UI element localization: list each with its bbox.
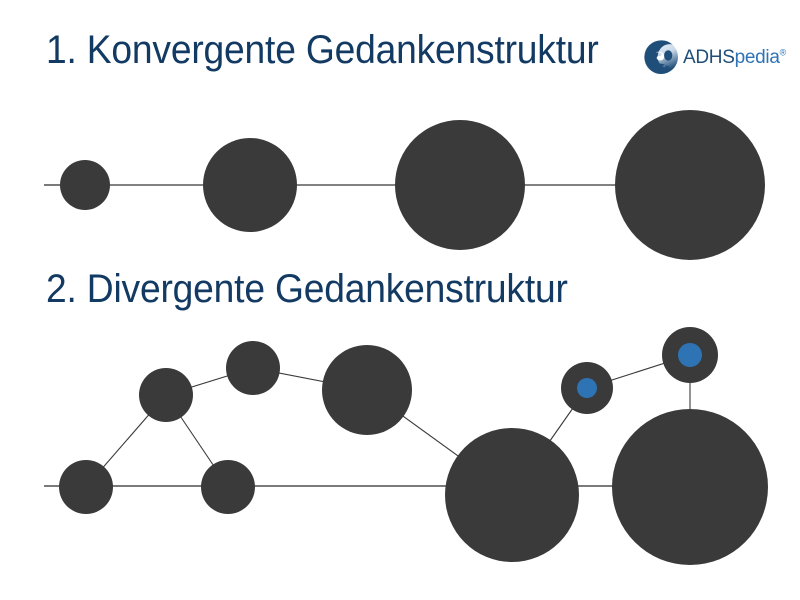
- thought-node: [612, 409, 768, 565]
- adhspedia-logo: ADHSpedia®: [643, 38, 791, 76]
- node-edge: [253, 368, 367, 390]
- node-edge: [367, 390, 512, 495]
- logo-trademark-symbol: ®: [780, 47, 786, 57]
- logo-text-primary: ADHS: [683, 47, 735, 68]
- thought-node: [322, 345, 412, 435]
- adhspedia-logo-icon: [643, 39, 679, 75]
- divergente-struktur-diagram: [44, 327, 768, 565]
- node-edge: [86, 395, 166, 487]
- konvergente-struktur-diagram: [44, 110, 765, 260]
- infographic-canvas: 1. Konvergente Gedankenstruktur ADHSpedi…: [0, 0, 800, 600]
- thought-node: [226, 341, 280, 395]
- adhspedia-logo-text: ADHSpedia®: [683, 48, 786, 67]
- thought-node: [201, 460, 255, 514]
- thought-node-core: [678, 343, 702, 367]
- thought-node: [59, 460, 113, 514]
- node-edge: [587, 355, 690, 388]
- section-title-divergent: 2. Divergente Gedankenstruktur: [46, 267, 568, 312]
- thought-node: [445, 428, 579, 562]
- node-edge: [166, 395, 228, 487]
- node-edge: [166, 368, 253, 395]
- section-title-konvergent: 1. Konvergente Gedankenstruktur: [46, 28, 599, 73]
- thought-node: [662, 327, 718, 383]
- thought-node: [139, 368, 193, 422]
- thought-node: [561, 362, 613, 414]
- thought-node-core: [577, 378, 597, 398]
- logo-text-secondary: pedia: [735, 47, 780, 68]
- thought-node: [615, 110, 765, 260]
- thought-node: [395, 120, 525, 250]
- thought-node: [60, 160, 110, 210]
- node-edge: [512, 388, 587, 495]
- thought-node: [203, 138, 297, 232]
